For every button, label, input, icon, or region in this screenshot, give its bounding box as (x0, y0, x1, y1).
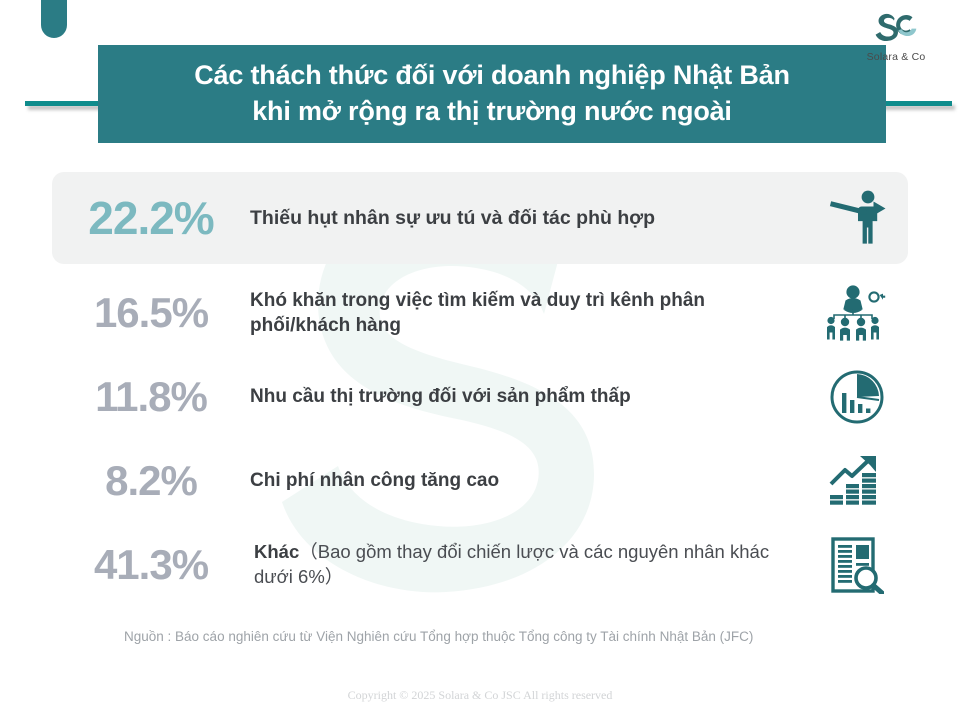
stats-list: 22.2% Thiếu hụt nhân sự ưu tú và đối tác… (0, 172, 960, 612)
list-item[interactable]: 11.8% Nhu cầu thị trường đối với sản phẩ… (52, 360, 908, 434)
sc-monogram-icon (868, 8, 924, 50)
stat-icon-cell (814, 453, 900, 509)
list-item[interactable]: 41.3% Khác（Bao gồm thay đổi chiến lược v… (52, 528, 908, 602)
list-item[interactable]: 22.2% Thiếu hụt nhân sự ưu tú và đối tác… (52, 172, 908, 264)
stat-percentage: 41.3% (52, 544, 250, 586)
document-search-icon (830, 536, 884, 594)
rule-right-decoration (880, 101, 952, 106)
stat-label: Khác（Bao gồm thay đổi chiến lược và các … (250, 540, 814, 590)
person-with-arrow-icon (827, 189, 887, 247)
pie-bar-chart-icon (829, 369, 885, 425)
rising-arrow-coins-icon (828, 453, 886, 509)
stat-label: Chi phí nhân công tăng cao (250, 468, 814, 493)
stat-percentage: 11.8% (52, 376, 250, 418)
stat-label: Nhu cầu thị trường đối với sản phẩm thấp (250, 384, 814, 409)
stat-percentage: 22.2% (52, 195, 250, 241)
stat-icon-cell (814, 284, 900, 342)
stat-percentage: 8.2% (52, 460, 250, 502)
page-title: Các thách thức đối với doanh nghiệp Nhật… (180, 58, 803, 129)
stat-label-rest: （Bao gồm thay đổi chiến lược và các nguy… (254, 541, 769, 587)
logo-company-name: Solara & Co (850, 51, 942, 63)
stat-percentage: 16.5% (52, 292, 250, 334)
stat-icon-cell (814, 369, 900, 425)
stat-icon-cell (814, 189, 900, 247)
copyright-text: Copyright © 2025 Solara & Co JSC All rig… (0, 688, 960, 703)
stat-label: Thiếu hụt nhân sự ưu tú và đối tác phù h… (250, 205, 814, 231)
stat-label-bold: Khác (254, 541, 299, 562)
corner-tab-decoration (41, 0, 67, 38)
slide-canvas: Các thách thức đối với doanh nghiệp Nhật… (0, 0, 960, 720)
team-network-icon (826, 284, 888, 342)
list-item[interactable]: 8.2% Chi phí nhân công tăng cao (52, 444, 908, 518)
list-item[interactable]: 16.5% Khó khăn trong việc tìm kiếm và du… (52, 276, 908, 350)
stat-label: Khó khăn trong việc tìm kiếm và duy trì … (250, 288, 814, 339)
slide-title-band: Các thách thức đối với doanh nghiệp Nhật… (98, 45, 886, 143)
stat-icon-cell (814, 536, 900, 594)
source-note: Nguồn : Báo cáo nghiên cứu từ Viện Nghiê… (124, 629, 753, 644)
brand-logo: Solara & Co (850, 8, 942, 63)
